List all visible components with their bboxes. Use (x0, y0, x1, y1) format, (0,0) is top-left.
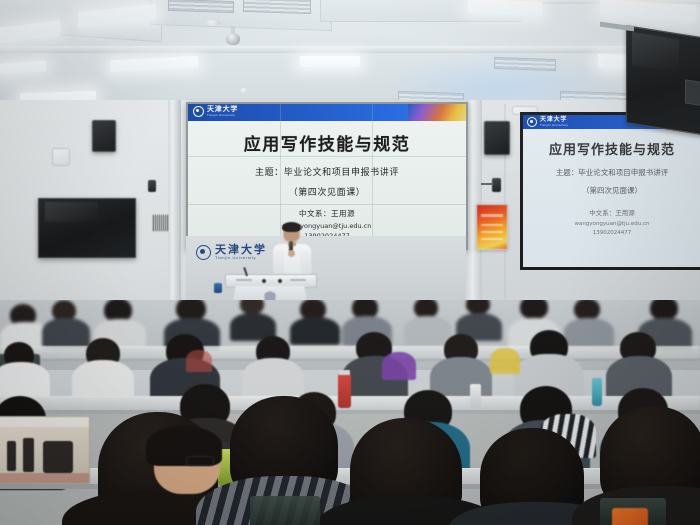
audience-area (0, 300, 700, 525)
projection-screen[interactable]: 天津大学 Tianjin University 应用写作技能与规范 主题：毕业论… (520, 112, 700, 270)
slide-content: 应用写作技能与规范 主题：毕业论文和项目申报书讲评 （第四次见面课） 中文系：王… (188, 121, 466, 246)
motion-sensor-left (52, 148, 70, 166)
wall-university-logo: 天津大学 Tianjin University (196, 244, 267, 260)
camera-bracket (481, 183, 493, 185)
tju-seal-icon (193, 106, 204, 117)
lecture-hall-photo: 天津大学 Tianjin University 应用写作技能与规范 主题：毕业论… (0, 0, 700, 525)
wall-speaker-center (484, 121, 510, 155)
bottle (338, 374, 351, 408)
smoke-detector (240, 88, 248, 93)
left-wall-display (38, 198, 136, 258)
slide-subtitle-2: （第四次见面课） (289, 185, 366, 198)
ptz-camera-center (492, 178, 501, 192)
right-wall-display (626, 25, 700, 137)
qr-code-sign-left (152, 214, 169, 232)
red-notice-poster[interactable] (476, 204, 508, 250)
proj-slide-email: wangyongyuan@tju.edu.cn (523, 221, 700, 227)
desk-poster (0, 416, 90, 484)
tju-logo-zh: 天津大学 (540, 116, 568, 123)
ceiling-light (300, 56, 360, 67)
presenter-arm-left (273, 249, 284, 276)
orange-bag (612, 508, 648, 525)
tju-seal-icon (527, 117, 537, 127)
header-decorative-photo (408, 104, 466, 121)
tju-logo-proj: 天津大学 Tianjin University (527, 116, 568, 127)
wall-pillar (168, 100, 179, 312)
tju-seal-icon (196, 245, 211, 260)
proj-slide-title: 应用写作技能与规范 (523, 139, 700, 158)
slide-title: 应用写作技能与规范 (244, 130, 411, 155)
air-vent (168, 0, 234, 13)
eyeglasses (186, 456, 214, 466)
slide-subtitle: 主题：毕业论文和项目申报书讲评 (255, 165, 399, 178)
wall-logo-zh: 天津大学 (215, 244, 267, 255)
tju-logo-zh: 天津大学 (207, 106, 238, 113)
main-led-screen[interactable]: 天津大学 Tianjin University 应用写作技能与规范 主题：毕业论… (186, 102, 468, 250)
ceiling (0, 0, 700, 112)
presenter-face-shadow (284, 232, 299, 241)
proj-slide-phone: 13902024477 (523, 230, 700, 236)
chair-back (250, 496, 320, 525)
tju-logo: 天津大学 Tianjin University (193, 106, 238, 117)
slide-header-bar: 天津大学 Tianjin University (188, 104, 466, 121)
proj-slide-subtitle: 主题：毕业论文和项目申报书讲评 (523, 167, 700, 178)
air-vent (243, 0, 311, 14)
wall-speaker-left (92, 120, 116, 152)
proj-slide-presenter: 中文系：王用源 (523, 207, 700, 217)
lectern-console[interactable] (225, 274, 317, 288)
slide-presenter: 中文系：王用源 (299, 208, 355, 219)
tju-logo-en: Tianjin University (207, 113, 238, 117)
presenter (270, 223, 314, 281)
smoke-detector (205, 20, 221, 26)
presenter-hair (282, 222, 301, 232)
bottle (592, 378, 602, 406)
bottle-cap (339, 370, 350, 375)
tju-logo-en: Tianjin University (540, 123, 568, 127)
bottle (470, 384, 481, 408)
proj-slide-subtitle-2: （第四次见面课） (523, 185, 700, 196)
dome-camera (226, 33, 240, 45)
presenter-hand (288, 250, 295, 257)
water-cup (214, 283, 222, 293)
ptz-camera-left (148, 180, 156, 192)
